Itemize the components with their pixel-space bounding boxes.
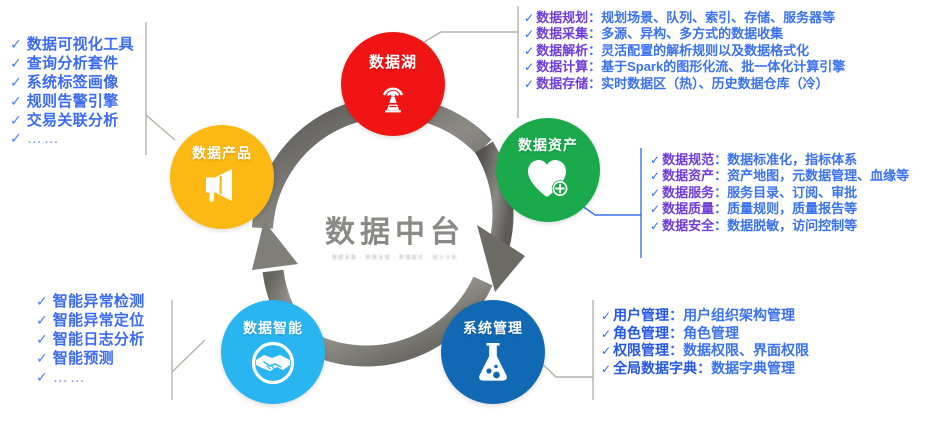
list-item-separator: ： [669,307,683,325]
list-item-label: …… [27,130,61,149]
check-icon: ✓ [601,327,611,342]
check-icon: ✓ [10,93,22,111]
node-system-manage-label: 系统管理 [463,318,523,338]
check-icon: ✓ [36,312,48,330]
list-item-label: 全局数据字典 [613,360,697,378]
list-item-separator: ： [714,201,727,217]
list-item: ✓ 数据安全 ： 数据脱敏，访问控制等 [650,218,909,234]
list-item-desc: 多源、异构、多方式的数据收集 [601,26,783,42]
list-item-separator: ： [714,185,727,201]
list-item: ✓ …… [10,130,134,149]
list-item-separator: ： [669,342,683,360]
list-item-desc: 数据字典管理 [711,360,795,378]
list-item-label: 用户管理 [613,307,669,325]
center-title: 数据中台 [300,207,490,251]
list-item-desc: 质量规则，质量报告等 [727,201,857,217]
list-item-label: 数据资产 [662,168,714,184]
list-item-desc: 规划场景、队列、索引、存储、服务器等 [601,10,835,26]
list-item-label: 智能预测 [53,350,114,369]
list-item-separator: ： [588,43,601,59]
list-item: ✓ 数据质量 ： 质量规则，质量报告等 [650,201,909,217]
check-icon: ✓ [36,369,48,387]
list-item-desc: 基于Spark的图形化流、批一体化计算引擎 [601,59,845,75]
check-icon: ✓ [650,202,660,217]
list-item: ✓ 权限管理 ： 数据权限、界面权限 [601,342,809,360]
check-icon: ✓ [524,27,534,42]
list-item-label: 数据计算 [536,59,588,75]
list-item-label: 智能异常定位 [53,312,145,331]
list-item-label: 查询分析套件 [27,55,119,74]
check-icon: ✓ [601,344,611,359]
list-item-separator: ： [588,10,601,26]
list-item: ✓ 数据服务 ： 服务目录、订阅、审批 [650,185,909,201]
list-item-label: 权限管理 [613,342,669,360]
list-item-label: 系统标签画像 [27,74,119,93]
list-item: ✓ 查询分析套件 [10,55,134,74]
list-item-separator: ： [714,218,727,234]
check-icon: ✓ [10,130,22,148]
list-item-label: 数据服务 [662,185,714,201]
list-item: ✓ 数据解析 ： 灵活配置的解析规则以及数据格式化 [524,43,845,59]
list-item-desc: 服务目录、订阅、审批 [727,185,857,201]
list-item: ✓ 数据规范 ： 数据标准化，指标体系 [650,152,909,168]
list-item: ✓ 数据可视化工具 [10,36,134,55]
flask-icon [474,341,512,383]
center-label: 数据中台 数据采集 · 数据治理 · 数据服务 · 统计分析 [300,207,490,261]
list-item: ✓ 智能异常检测 [36,293,145,312]
list-item: ✓ …… [36,369,145,388]
list-item: ✓ 数据计算 ： 基于Spark的图形化流、批一体化计算引擎 [524,59,845,75]
check-icon: ✓ [36,293,48,311]
list-item-desc: 资产地图，元数据管理、血缘等 [727,168,909,184]
list-item: ✓ 数据规划 ： 规划场景、队列、索引、存储、服务器等 [524,10,845,26]
check-icon: ✓ [524,11,534,26]
node-system-manage[interactable]: 系统管理 [441,300,545,404]
check-icon: ✓ [10,74,22,92]
check-icon: ✓ [524,60,534,75]
list-item-label: 数据规范 [662,152,714,168]
list-item-label: 数据安全 [662,218,714,234]
list-item-label: 数据可视化工具 [27,36,134,55]
check-icon: ✓ [650,153,660,168]
list-item-desc: 数据标准化，指标体系 [727,152,857,168]
list-item: ✓ 智能日志分析 [36,331,145,350]
list-item-label: 数据质量 [662,201,714,217]
list-data-intelligence: ✓ 智能异常检测 ✓ 智能异常定位 ✓ 智能日志分析 ✓ 智能预测 ✓ …… [36,293,145,387]
list-item: ✓ 数据资产 ： 资产地图，元数据管理、血缘等 [650,168,909,184]
list-data-lake: ✓ 数据规划 ： 规划场景、队列、索引、存储、服务器等 ✓ 数据采集 ： 多源、… [524,10,845,92]
check-icon: ✓ [650,219,660,234]
list-item-separator: ： [588,26,601,42]
check-icon: ✓ [650,186,660,201]
list-item-label: 数据规划 [536,10,588,26]
list-item-desc: 用户组织架构管理 [683,307,795,325]
list-item: ✓ 交易关联分析 [10,112,134,131]
node-data-lake[interactable]: 数据湖 [341,32,445,136]
list-item: ✓ 角色管理 ： 角色管理 [601,325,809,343]
list-item-label: …… [53,369,87,388]
check-icon: ✓ [650,169,660,184]
list-item-separator: ： [588,59,601,75]
list-item-label: 智能异常检测 [53,293,145,312]
check-icon: ✓ [601,309,611,324]
list-item: ✓ 数据存储 ： 实时数据区（热）、历史数据仓库（冷） [524,76,845,92]
check-icon: ✓ [10,112,22,130]
broadcast-tower-icon [373,74,413,114]
list-item-separator: ： [588,76,601,92]
list-item-label: 数据存储 [536,76,588,92]
list-item-separator: ： [697,360,711,378]
list-system-manage: ✓ 用户管理 ： 用户组织架构管理 ✓ 角色管理 ： 角色管理 ✓ 权限管理 ：… [601,307,809,378]
list-item-desc: 数据权限、界面权限 [683,342,809,360]
list-item-desc: 实时数据区（热）、历史数据仓库（冷） [601,76,829,92]
list-item-label: 交易关联分析 [27,112,119,131]
check-icon: ✓ [36,331,48,349]
list-item: ✓ 智能预测 [36,350,145,369]
megaphone-icon [200,167,244,203]
list-item-label: 规则告警引擎 [27,93,119,112]
heart-plus-icon [525,157,571,199]
list-item: ✓ 数据采集 ： 多源、异构、多方式的数据收集 [524,26,845,42]
check-icon: ✓ [601,362,611,377]
check-icon: ✓ [10,55,22,73]
check-icon: ✓ [36,350,48,368]
list-item-label: 数据采集 [536,26,588,42]
list-item-separator: ： [714,168,727,184]
list-item-label: 智能日志分析 [53,331,145,350]
list-item: ✓ 用户管理 ： 用户组织架构管理 [601,307,809,325]
center-subtitle: 数据采集 · 数据治理 · 数据服务 · 统计分析 [300,254,490,261]
diagram-canvas: 数据中台 数据采集 · 数据治理 · 数据服务 · 统计分析 数据湖 数据资产 [0,0,931,428]
node-data-asset[interactable]: 数据资产 [496,118,600,222]
node-data-intelligence-label: 数据智能 [243,318,303,338]
node-data-product[interactable]: 数据产品 [170,125,274,229]
list-item-label: 数据解析 [536,43,588,59]
list-item-separator: ： [714,152,727,168]
list-item: ✓ 智能异常定位 [36,312,145,331]
node-data-lake-label: 数据湖 [369,51,417,72]
list-item-label: 角色管理 [613,325,669,343]
list-data-product: ✓ 数据可视化工具 ✓ 查询分析套件 ✓ 系统标签画像 ✓ 规则告警引擎 ✓ 交… [10,36,134,149]
list-item: ✓ 全局数据字典 ： 数据字典管理 [601,360,809,378]
node-data-intelligence[interactable]: 数据智能 [221,300,325,404]
check-icon: ✓ [524,77,534,92]
list-item: ✓ 系统标签画像 [10,74,134,93]
check-icon: ✓ [524,44,534,59]
node-data-product-label: 数据产品 [192,143,252,163]
list-item-desc: 灵活配置的解析规则以及数据格式化 [601,43,809,59]
handshake-icon [250,340,296,384]
list-item-separator: ： [669,325,683,343]
list-item: ✓ 规则告警引擎 [10,93,134,112]
node-data-asset-label: 数据资产 [518,135,578,155]
list-item-desc: 角色管理 [683,325,739,343]
list-item-desc: 数据脱敏，访问控制等 [727,218,857,234]
list-data-asset: ✓ 数据规范 ： 数据标准化，指标体系 ✓ 数据资产 ： 资产地图，元数据管理、… [650,152,909,234]
check-icon: ✓ [10,36,22,54]
